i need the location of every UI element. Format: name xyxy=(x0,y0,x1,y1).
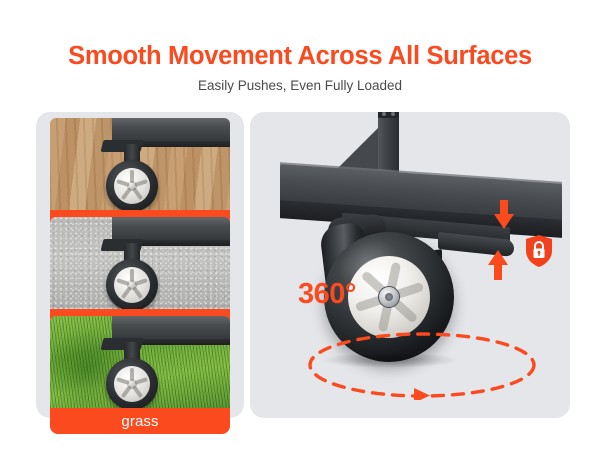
axle-bolt xyxy=(378,286,400,308)
mini-caster-wheel xyxy=(106,259,158,309)
post-cap xyxy=(378,112,399,118)
surface-thumbnail-panel: paved floors carpets xyxy=(36,112,244,418)
product-feature-banner: Smooth Movement Across All Surfaces Easi… xyxy=(0,0,600,450)
arrow-up-icon xyxy=(488,250,508,280)
mini-wheel-hub xyxy=(114,366,150,402)
mini-wheel-hub xyxy=(114,168,150,204)
caster-detail-panel: 360° xyxy=(250,112,570,418)
rotation-degree-label: 360° xyxy=(298,278,356,311)
thumbnail-carpets[interactable] xyxy=(50,217,230,309)
wheel-hub xyxy=(348,256,430,338)
mini-caster-wheel xyxy=(106,358,158,408)
mini-frame-beam xyxy=(112,316,230,340)
shield-lock-icon xyxy=(524,234,554,268)
mini-frame-beam xyxy=(112,118,230,142)
arrow-down-icon xyxy=(494,200,514,230)
caption-grass: grass xyxy=(50,408,230,434)
page-subtitle: Easily Pushes, Even Fully Loaded xyxy=(0,78,600,93)
page-title: Smooth Movement Across All Surfaces xyxy=(0,42,600,71)
thumbnail-paved-floors[interactable] xyxy=(50,118,230,210)
thumbnail-grass[interactable] xyxy=(50,316,230,408)
panel-divider xyxy=(244,112,250,418)
rotation-orbit-icon xyxy=(304,330,540,400)
mini-frame-beam xyxy=(112,217,230,241)
caster-hero-illustration: 360° xyxy=(250,112,570,418)
mini-wheel-hub xyxy=(114,267,150,303)
mini-caster-wheel xyxy=(106,160,158,210)
